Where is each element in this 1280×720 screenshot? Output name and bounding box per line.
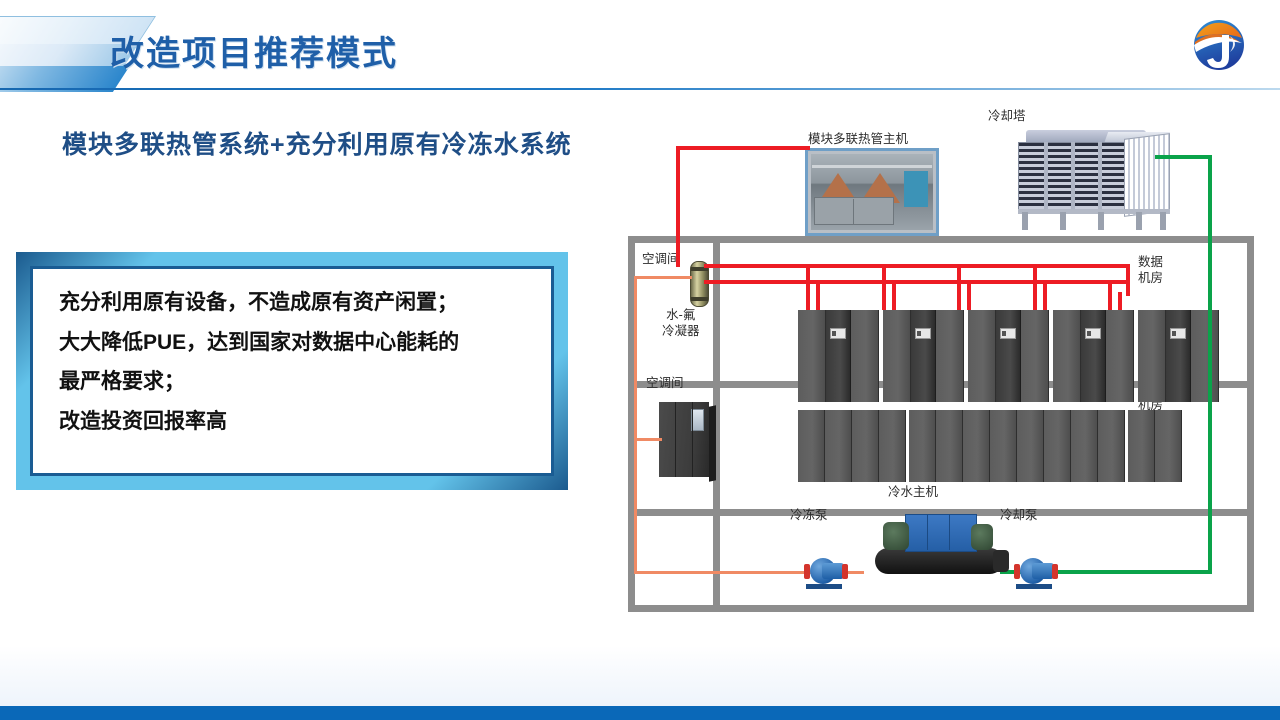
system-schematic: 模块多联热管主机 冷却塔	[600, 100, 1270, 630]
benefits-callout-inner: 充分利用原有设备，不造成原有资产闲置； 大大降低PUE，达到国家对数据中心能耗的…	[30, 266, 554, 476]
rack-row-room1	[798, 310, 1219, 402]
benefit-line-2: 大大降低PUE，达到国家对数据中心能耗的	[59, 331, 525, 355]
pipe-red-drop-5b	[1118, 292, 1122, 310]
pipe-red-to-unit	[676, 146, 810, 150]
label-heatpipe-unit: 模块多联热管主机	[808, 132, 908, 148]
pipe-green-to-tower	[1155, 155, 1212, 159]
label-ac-room-1: 空调间	[642, 252, 680, 268]
water-cooled-chiller	[875, 512, 1003, 574]
benefit-line-3: 最严格要求；	[59, 370, 525, 394]
pipe-orange-to-crac2	[634, 438, 662, 441]
cooling-tower-image	[1010, 130, 1172, 230]
footer-fade	[0, 646, 1280, 706]
label-data-room-1: 数据 机房	[1138, 255, 1163, 286]
company-logo-icon	[1186, 12, 1252, 78]
pipe-red-elbow	[676, 251, 680, 267]
label-cooling-pump: 冷却泵	[1000, 508, 1038, 524]
label-condenser: 水-氟 冷凝器	[662, 308, 700, 339]
header-band: 改造项目推荐模式	[0, 0, 1280, 90]
pipe-orange-to-condenser	[634, 276, 692, 279]
pipe-red-riser	[676, 146, 680, 251]
page-title: 改造项目推荐模式	[110, 26, 398, 75]
crac-unit-room2	[659, 402, 709, 477]
slide-root: 改造项目推荐模式 模块多联热管系统+充分利用原有冷冻水系统 充分利用原有设备，不…	[0, 0, 1280, 720]
benefit-line-4: 改造投资回报率高	[59, 410, 525, 434]
section-subtitle: 模块多联热管系统+充分利用原有冷冻水系统	[62, 125, 572, 161]
header-divider	[0, 88, 1280, 90]
condenser-water-pump	[1010, 558, 1058, 586]
label-cooling-tower: 冷却塔	[988, 109, 1026, 125]
rack-row-room2	[798, 410, 1182, 482]
benefits-callout-box: 充分利用原有设备，不造成原有资产闲置； 大大降低PUE，达到国家对数据中心能耗的…	[16, 252, 568, 490]
room-divider-vertical-2	[713, 509, 720, 612]
pipe-red-branch-return	[704, 280, 810, 284]
chilled-water-pump	[800, 558, 848, 586]
pipe-red-drop-1b	[816, 280, 820, 310]
pipe-orange-riser	[634, 276, 637, 574]
pipe-red-drop-3b	[967, 280, 971, 310]
pipe-red-drop-2	[882, 264, 886, 310]
footer-bar	[0, 706, 1280, 720]
label-ac-room-2: 空调间	[646, 376, 684, 392]
label-chiller: 冷水主机	[888, 485, 938, 501]
label-chilled-pump: 冷冻泵	[790, 508, 828, 524]
pipe-red-drop-4b	[1043, 280, 1047, 310]
pipe-red-drop-2b	[892, 280, 896, 310]
benefit-line-1: 充分利用原有设备，不造成原有资产闲置；	[59, 291, 525, 315]
pipe-red-drop-5	[1108, 280, 1112, 310]
pipe-red-drop-3	[957, 264, 961, 310]
pipe-red-header-top	[806, 264, 1130, 268]
heatpipe-unit-photo	[805, 148, 939, 236]
pipe-red-drop-1	[806, 264, 810, 310]
pipe-red-branch-main	[704, 264, 810, 268]
pipe-red-right-drop	[1126, 264, 1130, 296]
pipe-green-riser	[1208, 155, 1212, 574]
pipe-red-drop-4	[1033, 264, 1037, 310]
